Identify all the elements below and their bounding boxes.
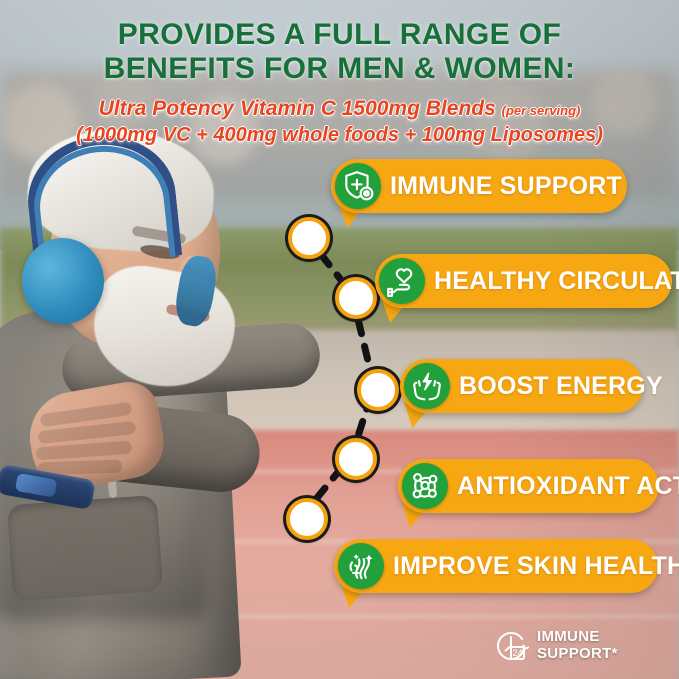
subtitle-main-text: Ultra Potency Vitamin C 1500mg Blends <box>99 97 496 120</box>
benefit-label: ANTIOXIDANT ACTIVITY <box>457 472 679 501</box>
molecule-icon <box>402 463 448 509</box>
benefit-label: HEALTHY CIRCULATION <box>434 267 679 296</box>
badge-hours-text: 24 <box>512 648 522 658</box>
headline-line-2: BENEFITS FOR MEN & WOMEN: <box>0 52 679 86</box>
benefit-pill-boost-energy[interactable]: BOOST ENERGY <box>400 359 643 413</box>
benefit-pill-healthy-circulation[interactable]: HEALTHY CIRCULATION <box>375 254 672 308</box>
skin-waves-icon <box>338 543 384 589</box>
connector-dot-1 <box>288 217 330 259</box>
benefit-pill-antioxidant-activity[interactable]: ANTIOXIDANT ACTIVITY <box>398 459 659 513</box>
connector-dot-4 <box>335 438 377 480</box>
connector-dot-3 <box>357 369 399 411</box>
hands-lightning-icon <box>404 363 450 409</box>
headline-line-1: PROVIDES A FULL RANGE OF <box>0 18 679 52</box>
clock-24-icon: 24 <box>492 625 532 665</box>
connector-dot-2 <box>335 277 377 319</box>
product-benefits-graphic: PROVIDES A FULL RANGE OF BENEFITS FOR ME… <box>0 0 679 679</box>
subtitle-per-serving-note: (per serving) <box>502 103 581 118</box>
subtitle: Ultra Potency Vitamin C 1500mg Blends (p… <box>0 96 679 147</box>
benefit-label: IMMUNE SUPPORT <box>390 172 622 201</box>
hand-heart-icon <box>379 258 425 304</box>
immune-support-badge: 24 IMMUNE SUPPORT* <box>492 625 679 665</box>
subtitle-line-2: (1000mg VC + 400mg whole foods + 100mg L… <box>0 123 679 147</box>
headline: PROVIDES A FULL RANGE OF BENEFITS FOR ME… <box>0 18 679 85</box>
benefit-pill-immune-support[interactable]: IMMUNE SUPPORT <box>331 159 627 213</box>
benefit-label: BOOST ENERGY <box>459 372 663 401</box>
badge-label: IMMUNE SUPPORT* <box>537 628 679 662</box>
subtitle-line-1: Ultra Potency Vitamin C 1500mg Blends (p… <box>0 96 679 121</box>
connector-dot-5 <box>286 498 328 540</box>
shield-plus-icon <box>335 163 381 209</box>
benefit-label: IMPROVE SKIN HEALTH <box>393 552 679 581</box>
benefit-pill-improve-skin-health[interactable]: IMPROVE SKIN HEALTH <box>334 539 658 593</box>
